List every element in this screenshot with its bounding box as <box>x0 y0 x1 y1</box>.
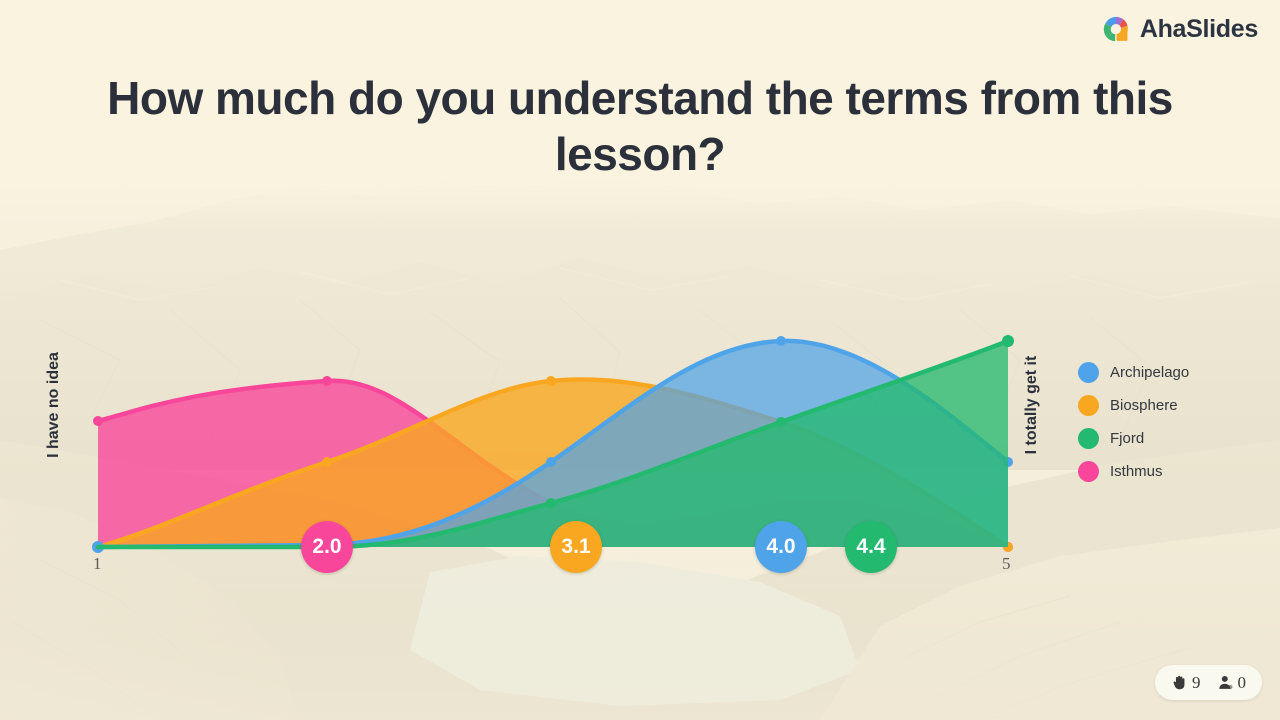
axis-label-left: I have no idea <box>45 345 63 465</box>
x-axis-tick-min: 1 <box>93 554 102 574</box>
average-badge-archipelago[interactable]: 4.0 <box>755 521 807 573</box>
hand-raised-icon <box>1171 674 1188 691</box>
legend-item-label: Fjord <box>1110 430 1144 447</box>
legend-item-label: Biosphere <box>1110 397 1178 414</box>
legend-item-biosphere[interactable]: Biosphere <box>1078 389 1189 422</box>
people-count: 0 <box>1238 673 1247 693</box>
legend-item-isthmus[interactable]: Isthmus <box>1078 455 1189 488</box>
response-counter: 9 0 <box>1155 665 1262 700</box>
average-badge-isthmus[interactable]: 2.0 <box>301 521 353 573</box>
average-badge-biosphere[interactable]: 3.1 <box>550 521 602 573</box>
average-badge-fjord[interactable]: 4.4 <box>845 521 897 573</box>
votes-counter: 9 <box>1171 673 1201 693</box>
legend-color-dot <box>1078 461 1099 482</box>
area-chart: I have no idea I totally get it 1 5 2.0 … <box>0 0 1280 720</box>
chart-legend: Archipelago Biosphere Fjord Isthmus <box>1078 356 1189 488</box>
legend-item-label: Archipelago <box>1110 364 1189 381</box>
votes-count: 9 <box>1192 673 1201 693</box>
x-axis-tick-max: 5 <box>1002 554 1011 574</box>
axis-label-right: I totally get it <box>1023 345 1041 465</box>
legend-item-fjord[interactable]: Fjord <box>1078 422 1189 455</box>
legend-color-dot <box>1078 362 1099 383</box>
legend-item-label: Isthmus <box>1110 463 1163 480</box>
legend-color-dot <box>1078 428 1099 449</box>
person-icon <box>1217 674 1234 691</box>
presentation-slide: AhaSlides How much do you understand the… <box>0 0 1280 720</box>
people-counter: 0 <box>1217 673 1247 693</box>
legend-item-archipelago[interactable]: Archipelago <box>1078 356 1189 389</box>
legend-color-dot <box>1078 395 1099 416</box>
